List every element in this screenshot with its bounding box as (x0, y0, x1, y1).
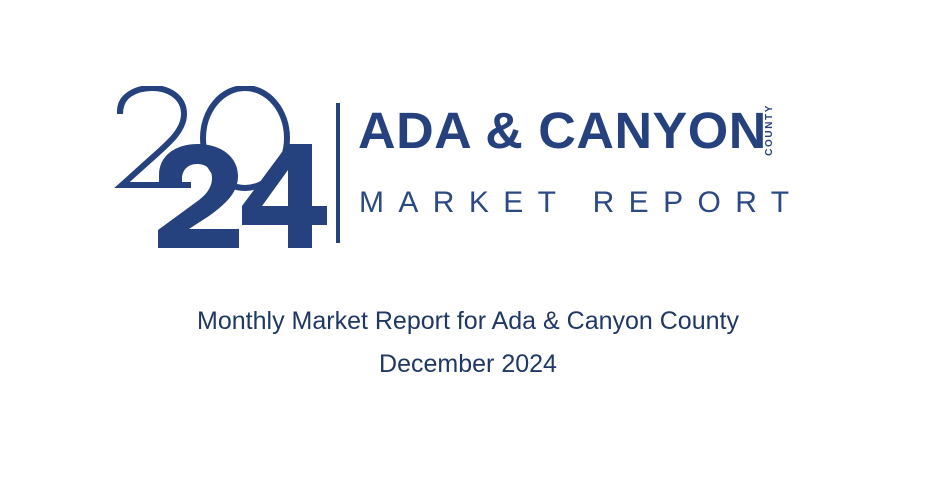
report-date: December 2024 (0, 343, 936, 386)
county-tag: COUNTY (765, 104, 775, 156)
brand-title: ADA & CANYON (358, 102, 767, 160)
year-mark-2024 (112, 86, 327, 256)
report-subtitle-block: Monthly Market Report for Ada & Canyon C… (0, 300, 936, 386)
year-solid-24-icon (156, 144, 327, 248)
wordmark-title-row: ADA & CANYON COUNTY (358, 102, 775, 164)
report-description: Monthly Market Report for Ada & Canyon C… (0, 300, 936, 343)
brand-wordmark: ADA & CANYON COUNTY MARKET REPORT (358, 102, 838, 242)
report-cover-slide: ADA & CANYON COUNTY MARKET REPORT Monthl… (0, 0, 936, 502)
brand-logo-lockup: ADA & CANYON COUNTY MARKET REPORT (0, 86, 936, 256)
logo-divider-rule (336, 103, 340, 243)
brand-subtitle: MARKET REPORT (359, 186, 803, 220)
